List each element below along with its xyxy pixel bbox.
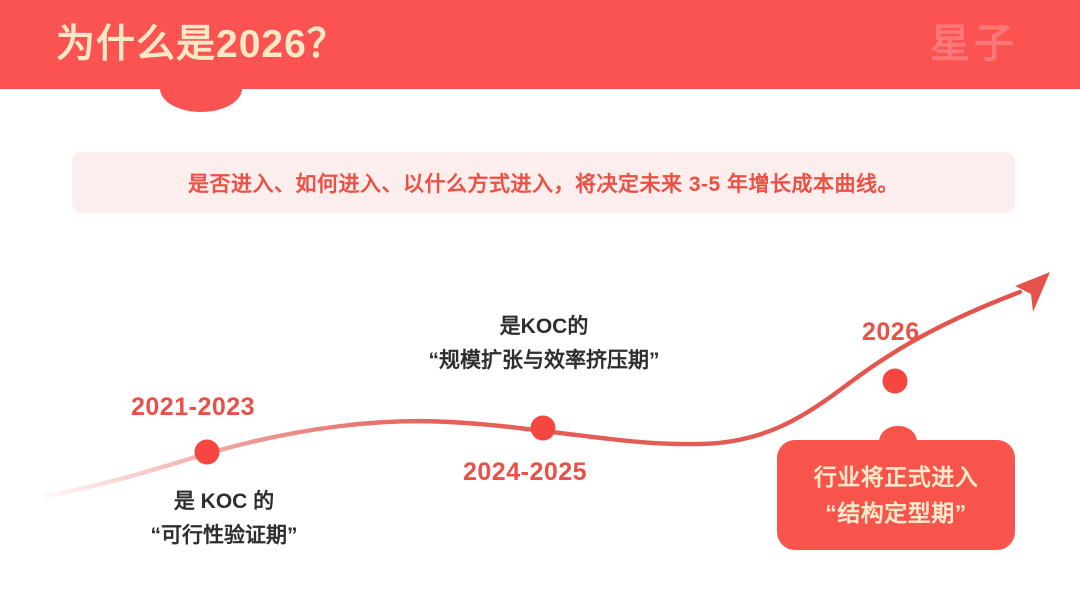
milestone-desc-line1: 是KOC的 — [374, 310, 714, 344]
milestone-dot-2024-2025 — [531, 416, 556, 441]
callout-line1: 行业将正式进入 — [814, 459, 979, 495]
callout-box-2026: 行业将正式进入 “结构定型期” — [777, 440, 1015, 550]
header-notch-pointer — [160, 88, 242, 112]
year-label-2024-2025: 2024-2025 — [463, 458, 587, 487]
growth-curve-chart: 2021-2023 是 KOC 的 “可行性验证期” 是KOC的 “规模扩张与效… — [0, 250, 1080, 608]
milestone-desc-line2: “可行性验证期” — [104, 519, 344, 553]
milestone-description-2021-2023: 是 KOC 的 “可行性验证期” — [104, 485, 344, 553]
brand-watermark: 星子 — [930, 18, 1018, 70]
year-label-2026: 2026 — [862, 318, 920, 347]
year-label-2021-2023: 2021-2023 — [131, 393, 255, 422]
subtitle-text: 是否进入、如何进入、以什么方式进入，将决定未来 3-5 年增长成本曲线。 — [188, 168, 899, 198]
subtitle-banner: 是否进入、如何进入、以什么方式进入，将决定未来 3-5 年增长成本曲线。 — [72, 152, 1015, 213]
milestone-desc-line2: “规模扩张与效率挤压期” — [374, 344, 714, 378]
milestone-dot-2021-2023 — [195, 440, 220, 465]
curve-svg — [0, 250, 1080, 608]
callout-line2: “结构定型期” — [825, 495, 967, 531]
milestone-desc-line1: 是 KOC 的 — [104, 485, 344, 519]
milestone-description-2024-2025: 是KOC的 “规模扩张与效率挤压期” — [374, 310, 714, 378]
page-title: 为什么是2026？ — [56, 20, 347, 69]
milestone-dot-2026 — [883, 369, 908, 394]
